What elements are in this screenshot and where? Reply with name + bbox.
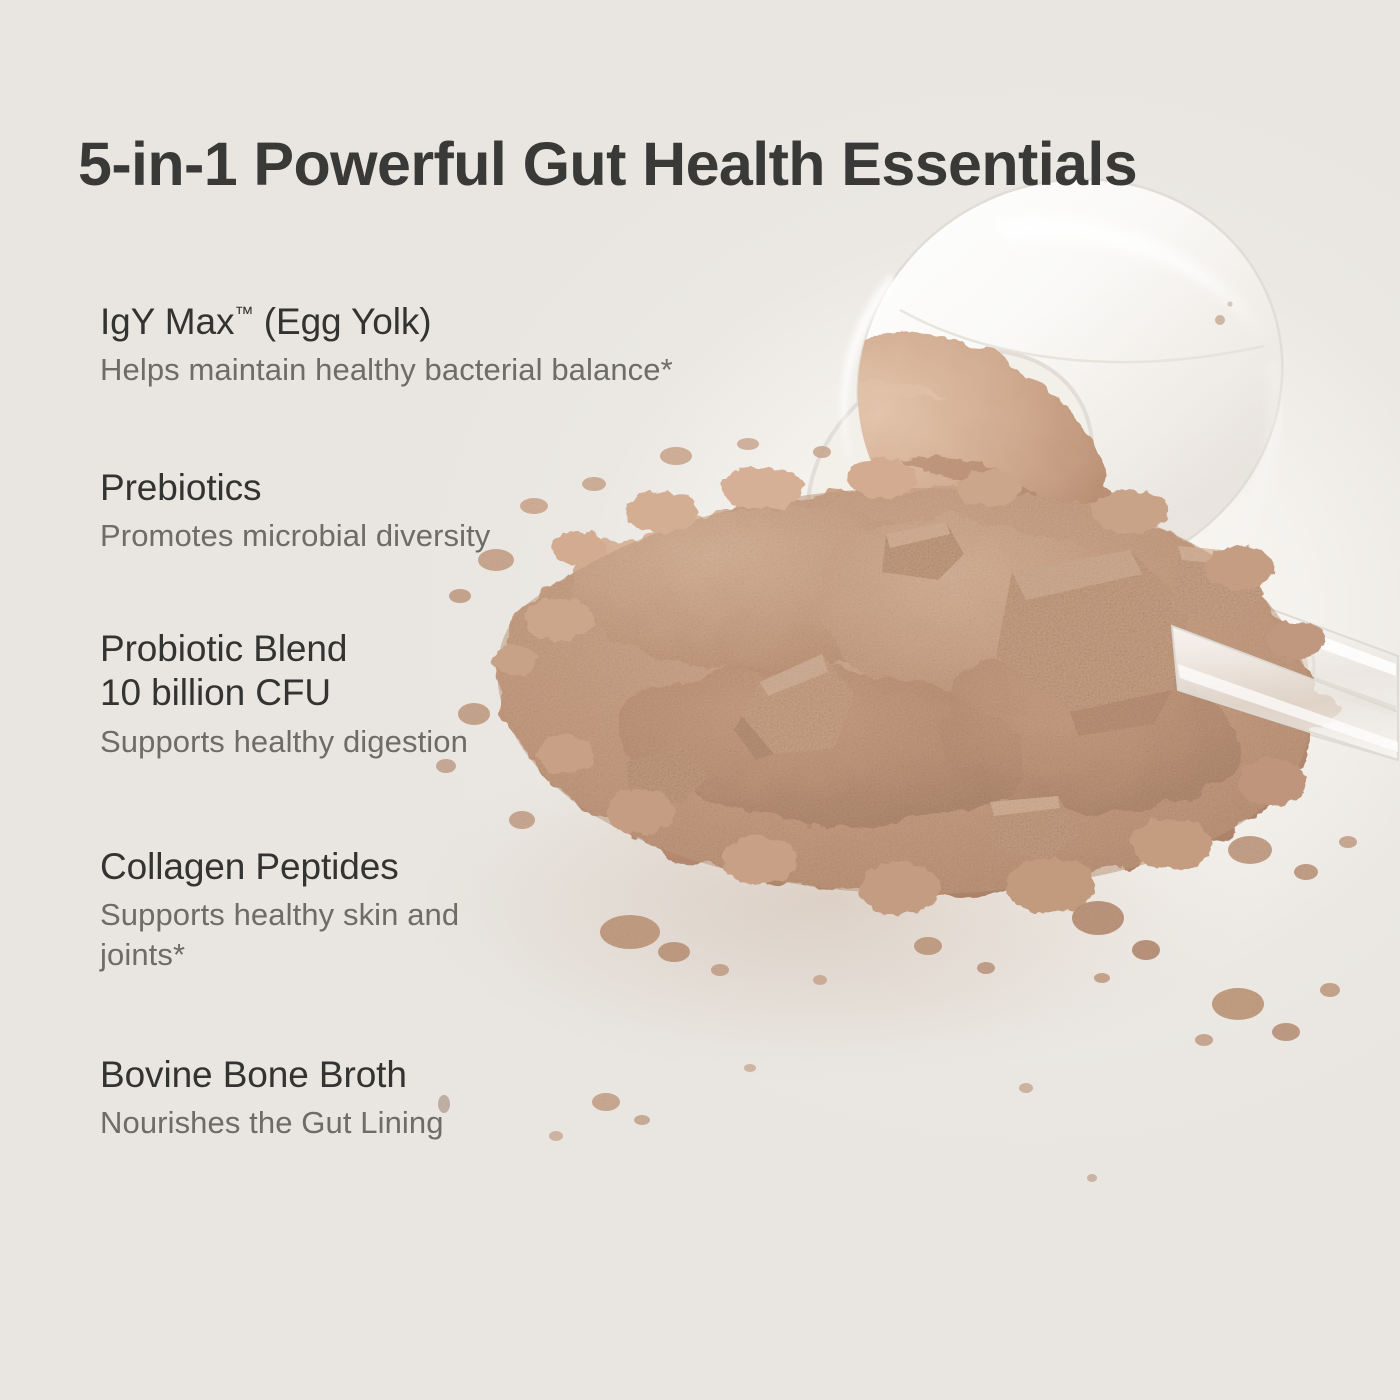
list-item-bovine-bone-broth: Bovine Bone Broth Nourishes the Gut Lini…	[100, 1053, 444, 1143]
trademark-icon: ™	[234, 304, 253, 325]
feature-heading-line2: 10 billion CFU	[100, 671, 468, 715]
feature-heading-suffix: (Egg Yolk)	[254, 301, 432, 342]
list-item-collagen-peptides: Collagen Peptides Supports healthy skin …	[100, 845, 520, 975]
feature-heading: Collagen Peptides	[100, 845, 520, 889]
feature-heading: Probiotic Blend	[100, 627, 468, 671]
feature-heading: Bovine Bone Broth	[100, 1053, 444, 1097]
product-photo	[430, 60, 1400, 1400]
list-item-prebiotics: Prebiotics Promotes microbial diversity	[100, 466, 490, 556]
feature-subtitle: Promotes microbial diversity	[100, 516, 490, 556]
feature-subtitle: Nourishes the Gut Lining	[100, 1103, 444, 1143]
feature-heading-text: IgY Max	[100, 301, 234, 342]
feature-heading: IgY Max™ (Egg Yolk)	[100, 300, 673, 344]
promo-graphic: 5-in-1 Powerful Gut Health Essentials Ig…	[0, 0, 1400, 1400]
list-item-probiotic-blend: Probiotic Blend 10 billion CFU Supports …	[100, 627, 468, 761]
feature-subtitle: Helps maintain healthy bacterial balance…	[100, 350, 673, 390]
list-item-igy-max: IgY Max™ (Egg Yolk) Helps maintain healt…	[100, 300, 673, 390]
feature-subtitle: Supports healthy digestion	[100, 722, 468, 762]
feature-subtitle: Supports healthy skin and joints*	[100, 895, 520, 974]
feature-heading: Prebiotics	[100, 466, 490, 510]
page-title: 5-in-1 Powerful Gut Health Essentials	[78, 132, 1368, 197]
